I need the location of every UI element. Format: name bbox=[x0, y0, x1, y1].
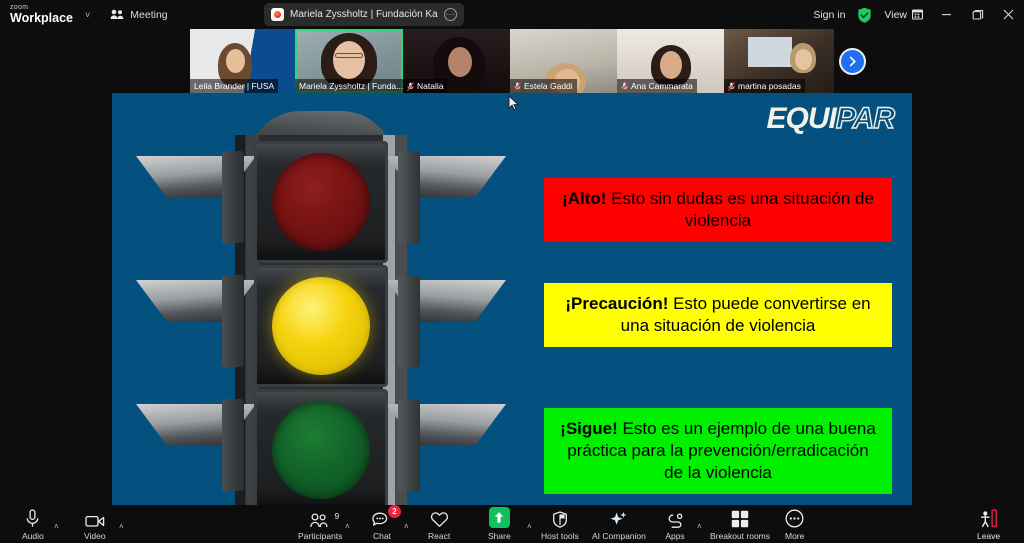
traffic-light-yellow-lamp bbox=[272, 277, 370, 375]
audio-button[interactable]: Audio bbox=[22, 509, 44, 541]
participant-name-badge: Leila Brander | FUSA bbox=[190, 79, 278, 93]
view-layout-icon bbox=[912, 9, 923, 20]
leave-button-label: Leave bbox=[977, 531, 1000, 541]
camera-icon bbox=[85, 509, 105, 528]
equipar-logo-filled: EQUI bbox=[767, 102, 836, 135]
audio-options-caret[interactable]: ˄ bbox=[54, 522, 59, 531]
participant-name: Mariela Zyssholtz | Funda... bbox=[299, 81, 403, 91]
active-meeting-tab[interactable]: Mariela Zyssholtz | Fundación Ka ··· bbox=[264, 3, 464, 26]
traffic-light-side-left bbox=[222, 275, 244, 367]
traffic-light-side-right bbox=[398, 399, 420, 491]
equipar-logo-outline: PAR bbox=[836, 102, 894, 135]
meeting-nav-label: Meeting bbox=[130, 9, 167, 21]
mouse-cursor bbox=[508, 95, 519, 111]
meeting-toolbar: Audio ˄ Video ˄ 9 Pa bbox=[0, 505, 1024, 543]
participant-name-badge: Estela Gaddi bbox=[510, 79, 577, 93]
tab-more-icon[interactable]: ··· bbox=[444, 8, 457, 21]
meeting-app-icon bbox=[271, 8, 284, 21]
message-box-alto-text: Esto sin dudas es una situación de viole… bbox=[606, 189, 873, 230]
message-box-alto: ¡Alto! Esto sin dudas es una situación d… bbox=[544, 178, 892, 242]
breakout-rooms-button[interactable]: Breakout rooms bbox=[710, 509, 770, 541]
brand-workplace-text: Workplace bbox=[10, 12, 73, 25]
host-tools-button-label: Host tools bbox=[541, 531, 579, 541]
minimize-button[interactable] bbox=[931, 0, 962, 29]
mic-muted-icon bbox=[621, 82, 628, 91]
more-button[interactable]: More bbox=[785, 509, 804, 541]
participant-thumbnail[interactable]: Natalia bbox=[403, 29, 510, 93]
shield-check-icon[interactable] bbox=[857, 7, 872, 23]
shared-screen-slide: EQUIPAR bbox=[112, 93, 912, 505]
video-options-caret[interactable]: ˄ bbox=[119, 522, 124, 531]
chat-button-label: Chat bbox=[373, 531, 391, 541]
host-tools-button[interactable]: Host tools bbox=[541, 509, 579, 541]
mic-muted-icon bbox=[728, 82, 735, 91]
react-button[interactable]: React bbox=[428, 509, 450, 541]
participants-button-label: Participants bbox=[298, 531, 342, 541]
chat-options-caret[interactable]: ˄ bbox=[404, 522, 409, 531]
traffic-light-illustration bbox=[122, 99, 522, 505]
zoom-workplace-brand: zoom Workplace bbox=[10, 4, 73, 25]
participant-thumbnail[interactable]: Leila Brander | FUSA bbox=[190, 29, 295, 93]
participants-count: 9 bbox=[334, 511, 339, 521]
chevron-right-icon bbox=[847, 56, 858, 67]
mic-muted-icon bbox=[407, 82, 414, 91]
message-box-sigue: ¡Sigue! Esto es un ejemplo de una buena … bbox=[544, 408, 892, 494]
participant-name-badge: Ana Cammarata bbox=[617, 79, 697, 93]
meeting-nav-item[interactable]: Meeting bbox=[110, 9, 167, 21]
next-page-button[interactable] bbox=[839, 48, 866, 75]
participant-name-badge: Natalia bbox=[403, 79, 447, 93]
chevron-down-icon[interactable]: ˅ bbox=[85, 10, 90, 20]
apps-icon bbox=[665, 509, 685, 528]
message-box-precaucion-bold: ¡Precaución! bbox=[565, 294, 668, 313]
apps-options-caret[interactable]: ˄ bbox=[697, 522, 702, 531]
participant-name: Ana Cammarata bbox=[631, 81, 693, 91]
ai-companion-button-label: AI Companion bbox=[592, 531, 646, 541]
traffic-light-side-left bbox=[222, 399, 244, 491]
title-bar: zoom Workplace ˅ Meeting Mariela Zysshol… bbox=[0, 0, 1024, 29]
sparkles-icon bbox=[609, 509, 628, 528]
chat-unread-badge: 2 bbox=[388, 505, 401, 518]
participant-thumbnail[interactable]: Ana Cammarata bbox=[617, 29, 724, 93]
message-box-precaucion: ¡Precaución! Esto puede convertirse en u… bbox=[544, 283, 892, 347]
participant-name: martina posadas bbox=[738, 81, 801, 91]
leave-meeting-icon bbox=[979, 509, 998, 528]
ellipsis-icon bbox=[785, 509, 804, 528]
brand-zoom-text: zoom bbox=[10, 4, 73, 11]
audio-button-label: Audio bbox=[22, 531, 44, 541]
traffic-light-housing-yellow bbox=[254, 265, 388, 387]
close-button[interactable] bbox=[993, 0, 1024, 29]
participant-thumbnail[interactable]: Estela Gaddi bbox=[510, 29, 617, 93]
video-button[interactable]: Video bbox=[84, 509, 106, 541]
leave-button[interactable]: Leave bbox=[977, 509, 1000, 541]
react-button-label: React bbox=[428, 531, 450, 541]
share-button[interactable]: Share bbox=[488, 509, 511, 541]
grid-icon bbox=[731, 509, 749, 528]
breakout-rooms-button-label: Breakout rooms bbox=[710, 531, 770, 541]
share-button-label: Share bbox=[488, 531, 511, 541]
apps-button[interactable]: Apps bbox=[665, 509, 685, 541]
chat-button[interactable]: 2 Chat bbox=[372, 509, 392, 541]
participant-name-badge: Mariela Zyssholtz | Funda... bbox=[295, 79, 403, 93]
traffic-light-side-right bbox=[398, 151, 420, 243]
participant-name: Natalia bbox=[417, 81, 443, 91]
mic-muted-icon bbox=[514, 82, 521, 91]
participant-thumbnail[interactable]: Mariela Zyssholtz | Funda... bbox=[295, 29, 403, 93]
message-box-alto-bold: ¡Alto! bbox=[562, 189, 606, 208]
active-meeting-tab-label: Mariela Zyssholtz | Fundación Ka bbox=[290, 9, 438, 20]
apps-button-label: Apps bbox=[665, 531, 684, 541]
traffic-light-red-lamp bbox=[272, 153, 370, 251]
equipar-logo: EQUIPAR bbox=[767, 104, 894, 134]
sign-in-button[interactable]: Sign in bbox=[805, 9, 853, 21]
traffic-light-green-lamp bbox=[272, 401, 370, 499]
share-options-caret[interactable]: ˄ bbox=[527, 522, 532, 531]
message-box-sigue-bold: ¡Sigue! bbox=[560, 419, 618, 438]
participants-options-caret[interactable]: ˄ bbox=[345, 522, 350, 531]
heart-icon bbox=[430, 509, 449, 528]
participants-icon: 9 bbox=[310, 509, 330, 528]
ai-companion-button[interactable]: AI Companion bbox=[592, 509, 646, 541]
video-button-label: Video bbox=[84, 531, 106, 541]
view-button[interactable]: View bbox=[876, 9, 931, 21]
shield-host-icon bbox=[552, 509, 568, 528]
traffic-light-side-right bbox=[398, 275, 420, 367]
people-icon bbox=[110, 9, 124, 20]
traffic-light-housing-red bbox=[254, 141, 388, 263]
share-screen-icon bbox=[489, 509, 510, 528]
traffic-light-side-left bbox=[222, 151, 244, 243]
chat-icon: 2 bbox=[372, 509, 392, 528]
traffic-light-housing-green bbox=[254, 389, 388, 505]
window-controls-group: Sign in View bbox=[805, 0, 1024, 29]
participant-name: Estela Gaddi bbox=[524, 81, 573, 91]
participant-name-badge: martina posadas bbox=[724, 79, 805, 93]
view-button-label: View bbox=[884, 9, 907, 21]
participants-button[interactable]: 9 Participants bbox=[298, 509, 342, 541]
maximize-button[interactable] bbox=[962, 0, 993, 29]
participant-thumbnail-strip[interactable]: Leila Brander | FUSA Mariela Zyssholtz |… bbox=[190, 29, 834, 93]
participant-thumbnail[interactable]: martina posadas bbox=[724, 29, 834, 93]
zoom-meeting-window: zoom Workplace ˅ Meeting Mariela Zysshol… bbox=[0, 0, 1024, 543]
microphone-icon bbox=[25, 509, 40, 528]
participant-name: Leila Brander | FUSA bbox=[194, 81, 274, 91]
more-button-label: More bbox=[785, 531, 804, 541]
